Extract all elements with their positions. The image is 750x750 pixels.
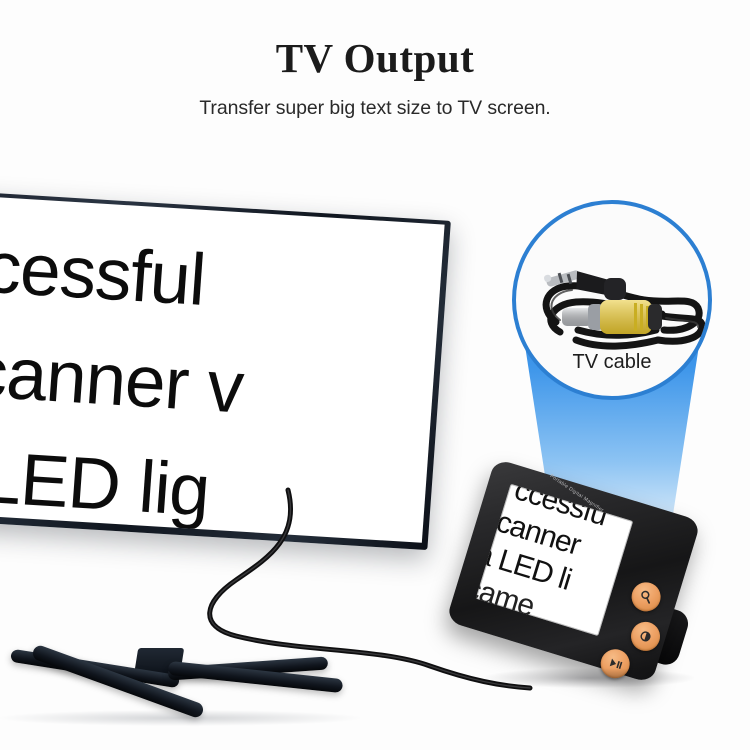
contrast-button[interactable] (627, 618, 663, 654)
page-subtitle: Transfer super big text size to TV scree… (0, 81, 750, 120)
header: TV Output Transfer super big text size t… (0, 0, 750, 120)
contrast-icon (636, 627, 655, 646)
zoom-button[interactable] (628, 579, 664, 615)
tv-cable-callout: TV cable (512, 200, 712, 400)
product-feature-image: TV Output Transfer super big text size t… (0, 0, 750, 750)
magnifier-icon (637, 587, 656, 606)
callout-ring: TV cable (512, 200, 712, 400)
handheld-magnifier: Portable Digital Magnifier ccessfu scann… (466, 486, 704, 701)
page-title: TV Output (0, 0, 750, 81)
callout-label: TV cable (516, 351, 708, 374)
device-shadow (484, 668, 694, 688)
device-screen-text: ccessfu scanner a LED li came (476, 484, 633, 636)
device-screen: ccessfu scanner a LED li came (476, 484, 633, 636)
